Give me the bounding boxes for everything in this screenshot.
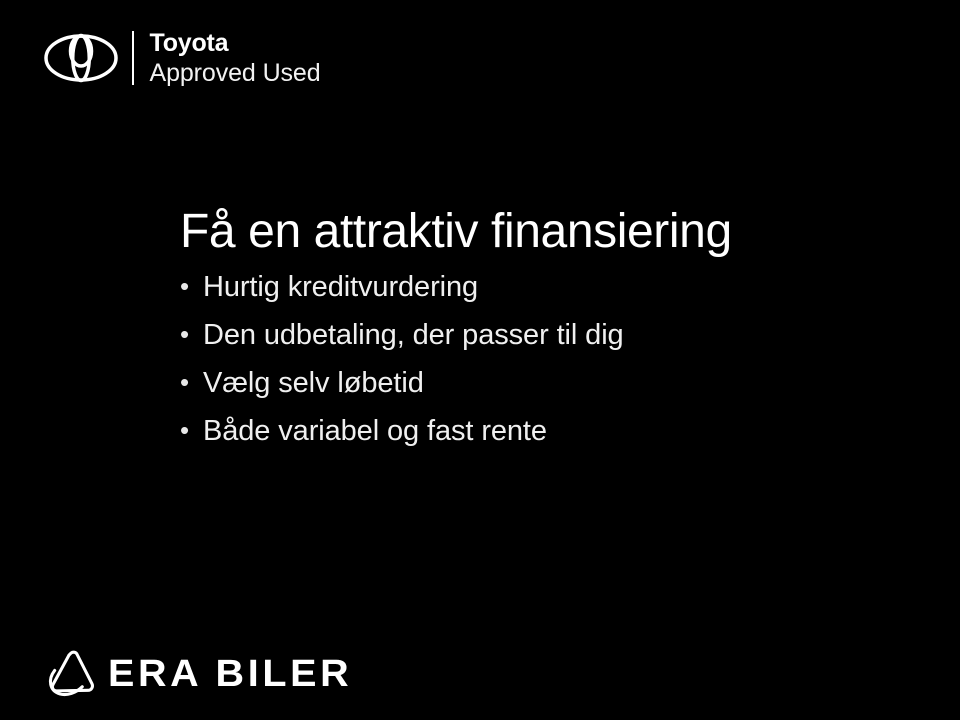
bullet-dot-icon: • [180,369,203,395]
list-item: • Både variabel og fast rente [180,417,880,465]
benefits-list: • Hurtig kreditvurdering • Den udbetalin… [180,273,880,465]
list-item: • Den udbetaling, der passer til dig [180,321,880,369]
slide-content: Få en attraktiv finansiering • Hurtig kr… [180,205,880,465]
brand-name: Toyota [150,31,321,56]
brand-divider [132,31,134,85]
bullet-dot-icon: • [180,321,203,347]
dealer-name: ERA BILER [108,655,352,693]
list-item-label: Hurtig kreditvurdering [203,273,478,302]
era-biler-logo: ERA BILER [44,650,343,698]
list-item-label: Den udbetaling, der passer til dig [203,321,624,350]
slide-headline: Få en attraktiv finansiering [180,205,880,259]
list-item-label: Vælg selv løbetid [203,369,424,398]
brand-subtitle: Approved Used [150,61,321,86]
list-item-label: Både variabel og fast rente [203,417,547,446]
toyota-approved-used-lockup: Toyota Approved Used [44,26,321,90]
brand-text: Toyota Approved Used [150,31,321,86]
bullet-dot-icon: • [180,273,203,299]
bullet-dot-icon: • [180,417,203,443]
toyota-emblem-icon [44,33,118,83]
slide-canvas: Toyota Approved Used Få en attraktiv fin… [0,0,960,720]
era-triangle-swoosh-icon [44,650,96,698]
list-item: • Vælg selv løbetid [180,369,880,417]
list-item: • Hurtig kreditvurdering [180,273,880,321]
